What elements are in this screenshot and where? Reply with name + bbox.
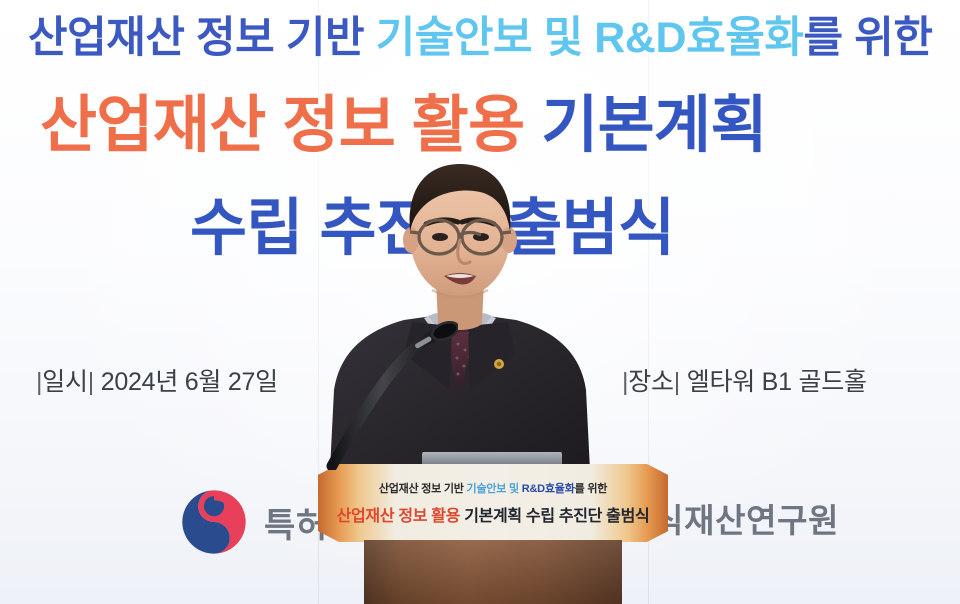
date-sep-close: |	[88, 368, 94, 396]
banner-line-1-seg-1: 산업재산 정보 기반	[28, 14, 376, 62]
screenshot-root: 산업재산 정보 기반 기술안보 및 R&D효율화를 위한 산업재산 정보 활용 …	[0, 0, 960, 604]
podium-sign-l2-seg-2: 기본계획 수립 추진단 출범식	[464, 508, 649, 525]
gooseneck-microphone	[318, 320, 458, 470]
podium: 산업재산 정보 기반 기술안보 및 R&D효율화를 위한 산업재산 정보 활용 …	[318, 452, 668, 604]
event-date: |일시| 2024년 6월 27일	[36, 362, 278, 398]
podium-sign-l1-seg-4: 를 위한	[575, 483, 608, 495]
banner-line-1-seg-3: 를 위한	[804, 14, 933, 62]
place-value: 엘타워 B1 골드홀	[687, 368, 867, 396]
place-label: 장소	[628, 368, 674, 396]
place-sep-close: |	[674, 368, 680, 396]
podium-sign-l1-seg-1: 산업재산 정보 기반	[379, 483, 467, 495]
podium-wood-body	[364, 540, 622, 604]
podium-sign-panel: 산업재산 정보 기반 기술안보 및 R&D효율화를 위한 산업재산 정보 활용 …	[318, 464, 668, 542]
taeguk-emblem-icon	[178, 486, 250, 558]
date-value: 2024년 6월 27일	[101, 368, 278, 396]
podium-sign-l2-seg-1: 산업재산 정보 활용	[337, 508, 465, 525]
event-place: |장소| 엘타워 B1 골드홀	[622, 362, 867, 398]
podium-sign-l1-seg-3: R&D효율화	[522, 483, 575, 495]
podium-sign-l1-seg-2: 기술안보 및	[467, 483, 522, 495]
podium-sign-line-1: 산업재산 정보 기반 기술안보 및 R&D효율화를 위한	[379, 480, 607, 496]
banner-line-1-seg-2: 기술안보 및 R&D효율화	[376, 14, 804, 62]
date-label: 일시	[42, 368, 88, 396]
podium-sign-line-2: 산업재산 정보 활용 기본계획 수립 추진단 출범식	[337, 502, 650, 526]
banner-line-1: 산업재산 정보 기반 기술안보 및 R&D효율화를 위한	[28, 17, 932, 60]
